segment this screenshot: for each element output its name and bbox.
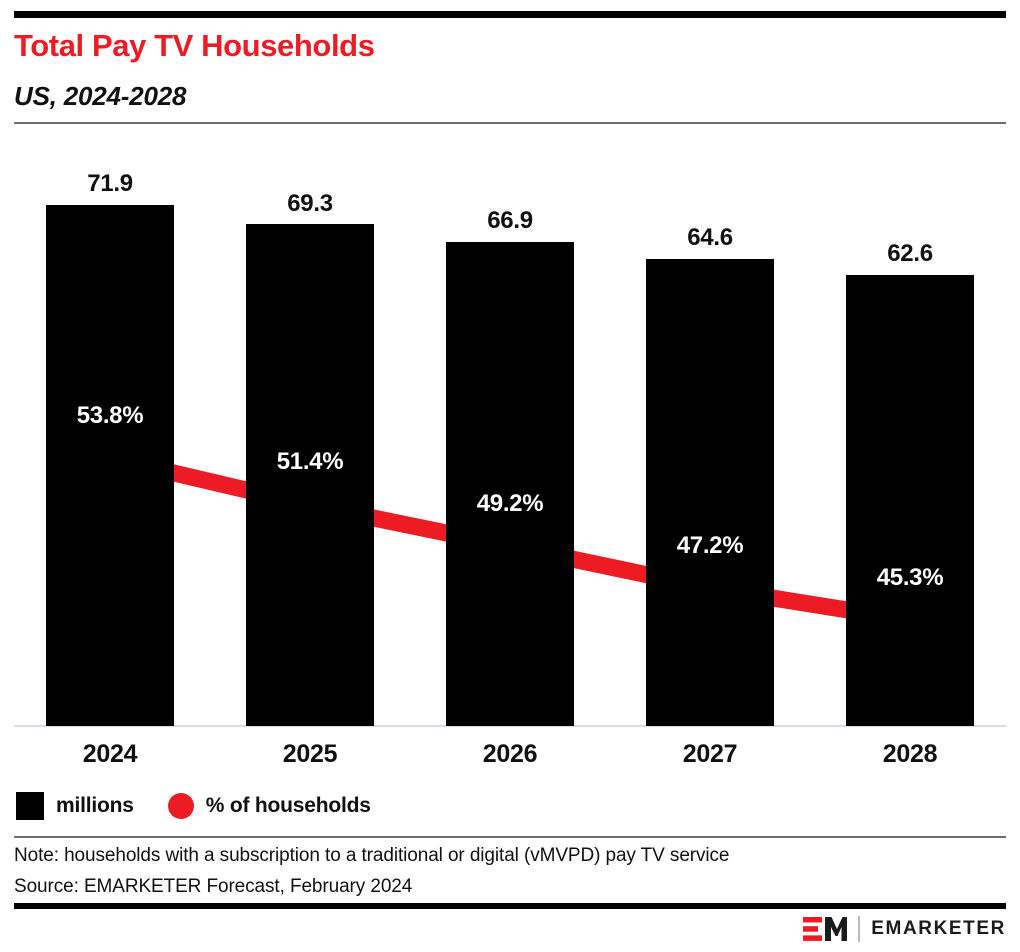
legend-label-percent: % of households (206, 794, 371, 818)
chart-subtitle: US, 2024-2028 (14, 79, 186, 113)
x-axis-label: 2024 (83, 740, 137, 769)
bar (446, 242, 574, 726)
bar-value-label: 66.9 (487, 207, 533, 235)
header-divider (14, 122, 1006, 124)
data-point-marker (96, 444, 124, 472)
chart-source: Source: EMARKETER Forecast, February 202… (14, 876, 412, 898)
data-point-marker (496, 532, 524, 560)
percent-value-label: 51.4% (277, 448, 344, 476)
logo-divider (858, 916, 860, 942)
percent-value-label: 45.3% (877, 564, 944, 592)
x-axis-label: 2027 (683, 740, 737, 769)
percent-value-label: 49.2% (477, 490, 544, 518)
percent-value-label: 47.2% (677, 532, 744, 560)
bar (46, 205, 174, 726)
data-point-marker (296, 491, 324, 519)
legend-circle-icon (168, 793, 194, 819)
bar (646, 259, 774, 726)
footer-divider (14, 836, 1006, 838)
x-axis-label: 2028 (883, 740, 937, 769)
data-point-marker (696, 574, 724, 602)
bottom-rule (14, 903, 1006, 909)
x-axis-label: 2026 (483, 740, 537, 769)
legend-item-percent: % of households (168, 793, 371, 819)
legend-square-icon (16, 792, 44, 820)
legend-label-millions: millions (56, 794, 134, 818)
chart-page: Total Pay TV Households US, 2024-2028 71… (0, 0, 1020, 952)
top-rule (14, 11, 1006, 18)
x-axis-label: 2025 (283, 740, 337, 769)
bar-value-label: 69.3 (287, 190, 333, 218)
trend-line (110, 458, 910, 620)
chart-note: Note: households with a subscription to … (14, 845, 729, 867)
bar-value-label: 62.6 (887, 240, 933, 268)
bar-value-label: 71.9 (87, 170, 133, 198)
bar-value-label: 64.6 (687, 224, 733, 252)
percent-value-label: 53.8% (77, 402, 144, 430)
legend-item-millions: millions (16, 792, 134, 820)
legend: millions % of households (16, 792, 371, 820)
bar (246, 224, 374, 726)
emarketer-logo: EMARKETER (803, 914, 1006, 944)
bar (846, 275, 974, 726)
x-axis-line (14, 725, 1006, 727)
em-mark-icon (803, 916, 847, 942)
data-point-marker (896, 606, 924, 634)
page-title: Total Pay TV Households (14, 27, 375, 65)
brand-wordmark: EMARKETER (871, 918, 1006, 940)
